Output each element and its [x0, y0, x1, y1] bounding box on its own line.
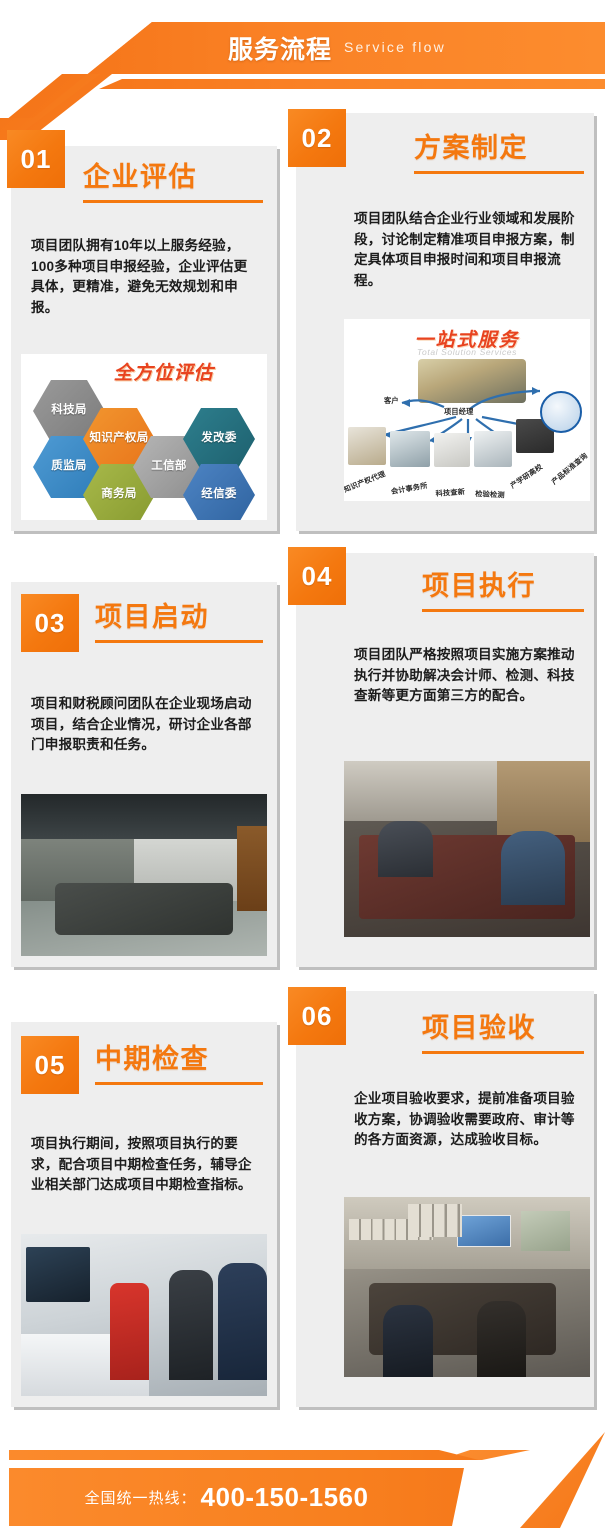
step-title: 项目验收: [422, 1015, 584, 1042]
photo-conference-room-kickoff: [21, 794, 267, 956]
page-footer: 全国统一热线： 400-150-1560: [0, 1418, 605, 1538]
step-card-06[interactable]: 06 项目验收 企业项目验收要求，提前准备项目验收方案，协调验收需要政府、审计等…: [296, 991, 594, 1407]
step-description: 项目执行期间，按照项目执行的要求，配合项目中期检查任务，辅导企业相关部门达成项目…: [31, 1134, 259, 1196]
hexagon-evaluation-graphic: 全方位评估 科技局 质监局 知识产权局 商务局 工信部 发改委 经信委: [21, 354, 267, 520]
step-number-badge: 03: [21, 594, 79, 652]
title-underline: [414, 171, 584, 174]
step-number-badge: 02: [288, 109, 346, 167]
one-stop-service-graphic: 一站式服务 Total Solution Services: [344, 319, 590, 501]
onestop-node-photo-1: [348, 427, 386, 465]
onestop-iso-seal: [540, 391, 582, 433]
hotline-label: 全国统一热线：: [85, 1487, 197, 1508]
step-title-group-04: 项目执行: [422, 573, 584, 612]
onestop-node-label-1: 知识产权代理: [344, 469, 387, 495]
hexagon-graphic-title: 全方位评估: [114, 358, 214, 385]
step-number-badge: 05: [21, 1036, 79, 1094]
step-card-03[interactable]: 03 项目启动 项目和财税顾问团队在企业现场启动项目，结合企业情况，研讨企业各部…: [11, 582, 277, 967]
step-title: 中期检查: [95, 1046, 263, 1073]
step-description: 企业项目验收要求，提前准备项目验收方案，协调验收需要政府、审计等的各方面资源，达…: [354, 1089, 582, 1151]
step-number-badge: 06: [288, 987, 346, 1045]
step-title-group-05: 中期检查: [95, 1046, 263, 1085]
step-title-group-03: 项目启动: [95, 604, 263, 643]
onestop-subtitle: Total Solution Services: [417, 347, 517, 357]
onestop-node-label-2: 会计事务所: [390, 481, 428, 497]
title-underline: [422, 1051, 584, 1054]
photo-showroom-inspection: [21, 1234, 267, 1396]
step-title: 项目执行: [422, 573, 584, 600]
step-card-05[interactable]: 05 中期检查 项目执行期间，按照项目执行的要求，配合项目中期检查任务，辅导企业…: [11, 1022, 277, 1407]
step-title-group-02: 方案制定: [414, 135, 584, 174]
photo-team-working-meeting: [344, 761, 590, 937]
page-subtitle: Service flow: [344, 39, 446, 57]
step-card-04[interactable]: 04 项目执行 项目团队严格按照项目实施方案推动执行并协助解决会计师、检测、科技…: [296, 553, 594, 967]
title-underline: [422, 609, 584, 612]
step-description: 项目团队严格按照项目实施方案推动执行并协助解决会计师、检测、科技查新等更方面第三…: [354, 645, 582, 707]
step-title-group-01: 企业评估: [83, 164, 263, 203]
title-underline: [83, 200, 263, 203]
step-title: 项目启动: [95, 604, 263, 631]
onestop-node-label-4: 检验检测: [475, 489, 505, 501]
step-number-badge: 04: [288, 547, 346, 605]
step-description: 项目团队拥有10年以上服务经验，100多种项目申报经验，企业评估更具体，更精准，…: [31, 236, 259, 319]
onestop-node-photo-4: [474, 431, 512, 467]
onestop-node-label-3: 科技查新: [435, 487, 465, 499]
step-description: 项目和财税顾问团队在企业现场启动项目，结合企业情况，研讨企业各部门申报职责和任务…: [31, 694, 259, 756]
onestop-hub-label-project-manager: 项目经理: [444, 407, 474, 417]
onestop-hub-label-customer: 客户: [384, 396, 399, 406]
footer-hotline-group: 全国统一热线： 400-150-1560: [9, 1468, 464, 1526]
header-title-group: 服务流程 Service flow: [0, 22, 605, 74]
page-header: 服务流程 Service flow: [0, 0, 605, 118]
onestop-node-label-5: 产学研高校: [508, 462, 544, 491]
photo-acceptance-meeting: [344, 1197, 590, 1377]
step-description: 项目团队结合企业行业领域和发展阶段，讨论制定精准项目申报方案，制定具体项目申报时…: [354, 209, 580, 292]
onestop-node-photo-2: [390, 431, 430, 467]
step-title: 企业评估: [83, 164, 263, 191]
onestop-node-label-6: 产品标准查询: [550, 451, 590, 487]
title-underline: [95, 640, 263, 643]
step-title-group-06: 项目验收: [422, 1015, 584, 1054]
hotline-number[interactable]: 400-150-1560: [201, 1482, 369, 1513]
step-card-01[interactable]: 01 企业评估 项目团队拥有10年以上服务经验，100多种项目申报经验，企业评估…: [11, 146, 277, 531]
step-card-02[interactable]: 02 方案制定 项目团队结合企业行业领域和发展阶段，讨论制定精准项目申报方案，制…: [296, 113, 594, 531]
title-underline: [95, 1082, 263, 1085]
step-number-badge: 01: [7, 130, 65, 188]
page-title: 服务流程: [228, 30, 332, 66]
onestop-node-photo-3: [434, 433, 470, 467]
step-title: 方案制定: [414, 135, 584, 162]
